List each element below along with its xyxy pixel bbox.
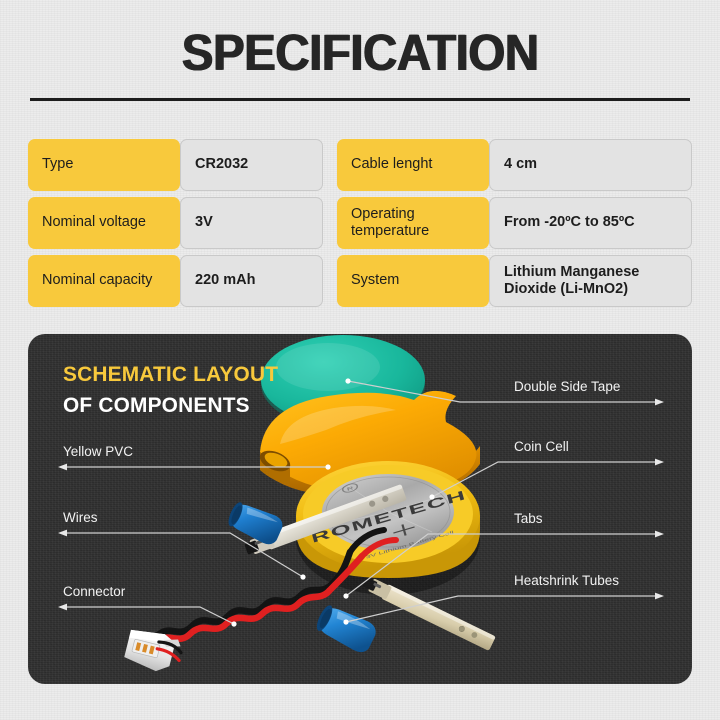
callout-double-side-tape: Double Side Tape [514,379,620,394]
spec-value-nominal-voltage: 3V [180,197,323,249]
spec-value-operating-temperature: From -20ºC to 85ºC [489,197,692,249]
callout-connector: Connector [63,584,125,599]
specification-page: SPECIFICATION Type CR2032 Cable lenght 4… [0,0,720,720]
spec-value-cable-length: 4 cm [489,139,692,191]
schematic-heading: SCHEMATIC LAYOUT OF COMPONENTS [63,362,285,418]
spec-label-cable-length: Cable lenght [337,139,489,191]
spec-label-operating-temperature: Operating temperature [337,197,489,249]
specification-table: Type CR2032 Cable lenght 4 cm Nominal vo… [28,139,692,307]
callout-yellow-pvc: Yellow PVC [63,444,133,459]
spec-value-type: CR2032 [180,139,323,191]
page-title: SPECIFICATION [25,24,695,82]
spec-label-type: Type [28,139,180,191]
schematic-heading-line2: OF COMPONENTS [63,393,278,418]
callout-tabs: Tabs [514,511,543,526]
callout-coin-cell: Coin Cell [514,439,569,454]
schematic-panel: SCHEMATIC LAYOUT OF COMPONENTS [28,334,692,684]
spec-value-system: Lithium Manganese Dioxide (Li-MnO2) [489,255,692,307]
title-divider [30,98,690,101]
spec-label-system: System [337,255,489,307]
spec-value-nominal-capacity: 220 mAh [180,255,323,307]
callout-heatshrink-tubes: Heatshrink Tubes [514,573,619,588]
callout-wires: Wires [63,510,98,525]
spec-label-nominal-voltage: Nominal voltage [28,197,180,249]
schematic-heading-line1: SCHEMATIC LAYOUT [63,362,278,387]
spec-label-nominal-capacity: Nominal capacity [28,255,180,307]
